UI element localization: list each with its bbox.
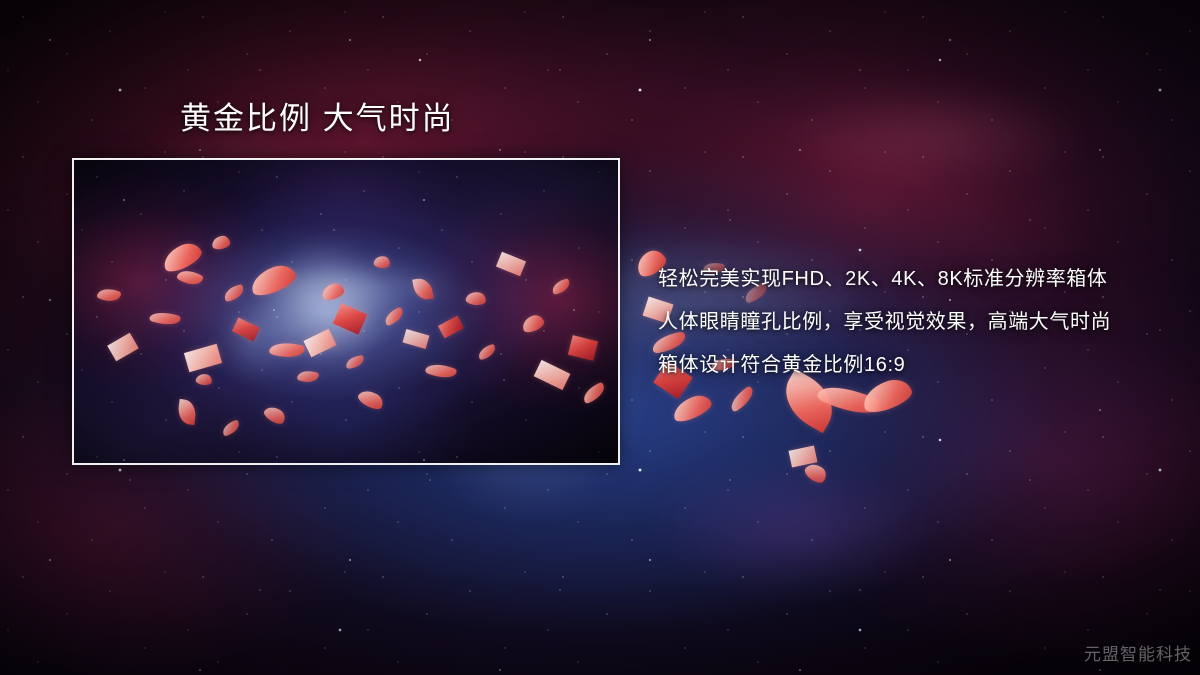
page-title: 黄金比例 大气时尚 <box>180 101 455 138</box>
body-line-2: 人体眼睛瞳孔比例，享受视觉效果，高端大气时尚 <box>658 301 1111 344</box>
slide-canvas: 黄金比例 大气时尚 轻松完美实现FHD、2K、4K、8K标准分辨率箱体 人体眼睛… <box>0 0 1200 675</box>
body-copy: 轻松完美实现FHD、2K、4K、8K标准分辨率箱体 人体眼睛瞳孔比例，享受视觉效… <box>658 258 1111 387</box>
body-line-3: 箱体设计符合黄金比例16:9 <box>658 344 1111 387</box>
watermark: 元盟智能科技 <box>1084 640 1192 665</box>
framed-image-panel <box>72 158 620 465</box>
body-line-1: 轻松完美实现FHD、2K、4K、8K标准分辨率箱体 <box>658 258 1111 301</box>
